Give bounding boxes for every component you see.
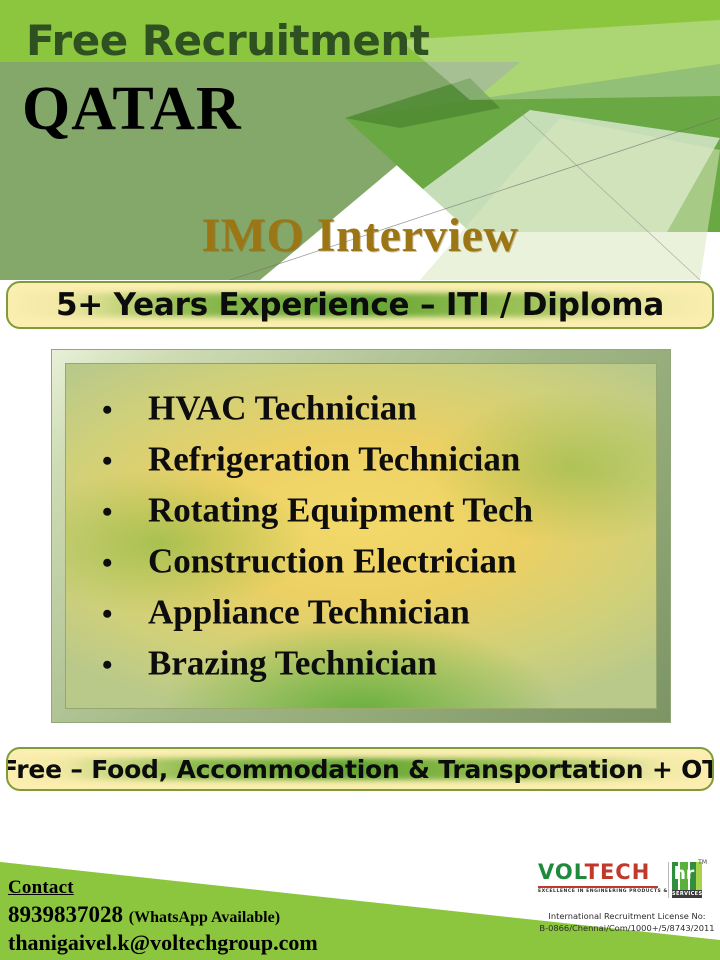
page-eyebrow: Free Recruitment [26,20,429,62]
hr-services-label: SERVICES [672,890,702,898]
bullet-icon: • [102,549,148,579]
list-item: • Refrigeration Technician [102,434,656,485]
experience-banner: 5+ Years Experience – ITI / Diploma [6,281,714,329]
benefits-banner: Free – Food, Accommodation & Transportat… [6,747,714,791]
trademark-icon: TM [698,859,707,866]
logo-lockup: VOLTECH EXCELLENCE IN ENGINEERING PRODUC… [538,862,716,898]
logo-word-vol: VOL [538,860,585,884]
logo-wordmark: VOLTECH EXCELLENCE IN ENGINEERING PRODUC… [538,862,662,894]
contact-block: Contact 8939837028 (WhatsApp Available) … [8,877,318,955]
hr-services-mark: hr SERVICES TM [668,862,703,898]
license-line-1: International Recruitment License No: [538,910,716,922]
contact-heading: Contact [8,877,318,899]
license-line-2: B-0866/Chennai/Com/1000+/5/8743/2011 [538,922,716,934]
list-item: • Construction Electrician [102,536,656,587]
experience-banner-text: 5+ Years Experience – ITI / Diploma [8,283,712,327]
logo-word-tech: TECH [585,860,651,884]
page-title-country: QATAR [22,78,242,140]
list-item: • Appliance Technician [102,587,656,638]
list-item: • HVAC Technician [102,383,656,434]
job-title: Rotating Equipment Tech [148,485,533,536]
job-title: Brazing Technician [148,638,437,689]
job-title: Construction Electrician [148,536,516,587]
bullet-icon: • [102,651,148,681]
contact-email[interactable]: thanigaivel.k@voltechgroup.com [8,930,318,956]
bullet-icon: • [102,498,148,528]
contact-phone-note: (WhatsApp Available) [129,909,280,926]
logo-tagline: EXCELLENCE IN ENGINEERING PRODUCTS & SER… [538,889,662,894]
list-item: • Rotating Equipment Tech [102,485,656,536]
recruitment-poster: Free Recruitment QATAR IMO Interview 5+ … [0,0,720,960]
job-title: HVAC Technician [148,383,417,434]
hr-mark-text: hr [669,866,699,883]
job-list-panel: • HVAC Technician • Refrigeration Techni… [65,363,657,709]
logo-text: VOLTECH [538,862,662,883]
headline-title: IMO Interview [0,208,720,263]
job-title: Appliance Technician [148,587,470,638]
benefits-banner-text: Free – Food, Accommodation & Transportat… [8,749,712,789]
job-title: Refrigeration Technician [148,434,520,485]
job-list-frame: • HVAC Technician • Refrigeration Techni… [52,350,670,722]
bullet-icon: • [102,600,148,630]
logo-divider [538,886,658,888]
contact-phone-row: 8939837028 (WhatsApp Available) [8,901,318,928]
list-item: • Brazing Technician [102,638,656,689]
license-block: International Recruitment License No: B-… [538,910,716,934]
job-list: • HVAC Technician • Refrigeration Techni… [66,383,656,690]
contact-phone[interactable]: 8939837028 [8,902,123,927]
company-logo-area: VOLTECH EXCELLENCE IN ENGINEERING PRODUC… [538,862,716,934]
bullet-icon: • [102,447,148,477]
bullet-icon: • [102,396,148,426]
